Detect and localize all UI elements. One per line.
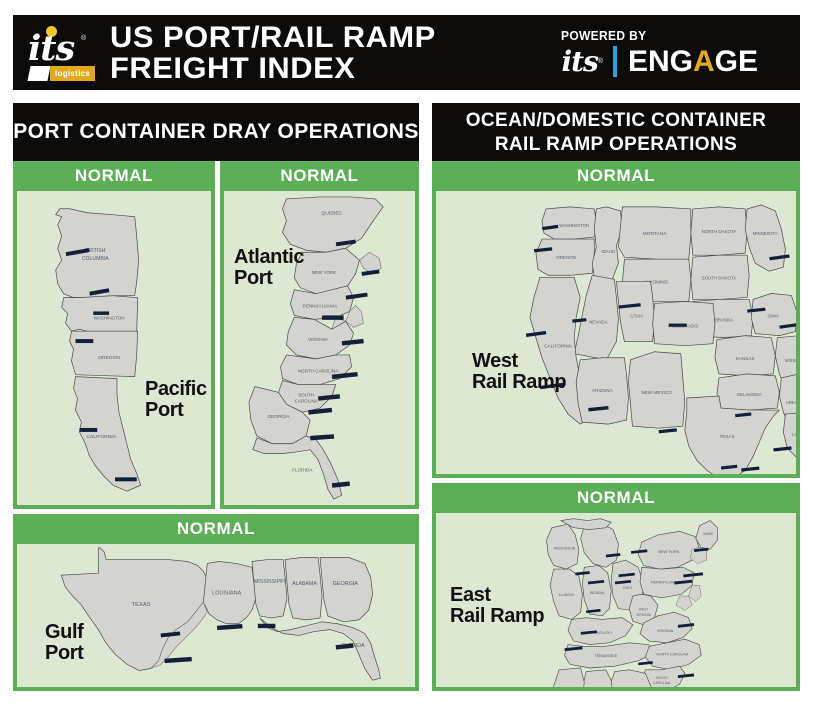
svg-text:COLUMBIA: COLUMBIA (82, 256, 109, 262)
svg-text:SOUTH: SOUTH (298, 392, 314, 397)
svg-text:MONTANA: MONTANA (643, 231, 667, 237)
svg-text:NORTH CAROLINA: NORTH CAROLINA (656, 652, 689, 656)
freight-index-infographic: its ® logistics US PORT/RAIL RAMP FREIGH… (0, 0, 813, 706)
status-badge-gulf-port: NORMAL (13, 514, 419, 544)
svg-text:WEST: WEST (639, 607, 649, 611)
engage-divider (613, 46, 617, 77)
svg-text:ARIZONA: ARIZONA (592, 388, 613, 393)
svg-text:WASHINGTON: WASHINGTON (559, 223, 589, 228)
map-atlantic-port: QUEBEC NEW YORK PENNSYLVANIA VIRGINIA (220, 191, 419, 509)
svg-text:NORTH CAROLINA: NORTH CAROLINA (298, 369, 339, 374)
card-atlantic-port: NORMAL QUEBEC NEW YORK PENNSYLVANIA (220, 161, 419, 509)
section-header-right-line1: OCEAN/DOMESTIC CONTAINER (432, 109, 800, 133)
logo-subbrand-text: logistics (50, 66, 95, 81)
logo-slash-shape (27, 66, 50, 81)
engage-name-pre: ENG (628, 45, 693, 78)
status-badge-atlantic-port: NORMAL (220, 161, 419, 191)
svg-text:TENNESSEE: TENNESSEE (594, 654, 617, 658)
svg-text:OREGON: OREGON (556, 255, 576, 260)
svg-text:GEORGIA: GEORGIA (333, 581, 359, 587)
svg-text:TEXAS: TEXAS (132, 602, 151, 608)
page-title: US PORT/RAIL RAMP FREIGHT INDEX (110, 22, 436, 84)
svg-text:VIRGINIA: VIRGINIA (636, 613, 652, 617)
section-port-container-dray-operations: PORT CONTAINER DRAY OPERATIONS NORMAL BR… (13, 103, 419, 691)
svg-text:GEORGIA: GEORGIA (268, 414, 291, 420)
status-badge-east-rail-ramp: NORMAL (432, 483, 800, 513)
map-pacific-port: BRITISH COLUMBIA WASHINGTON OREGON CALIF… (13, 191, 215, 509)
svg-text:VIRGINIA: VIRGINIA (308, 337, 329, 342)
svg-text:SOUTH DAKOTA: SOUTH DAKOTA (702, 275, 736, 280)
card-east-rail-ramp: NORMAL WISCONSIN ILLINOIS (432, 483, 800, 691)
svg-text:IDAHO: IDAHO (601, 249, 616, 254)
gulf-port-map-svg: TEXAS LOUISIANA MISSISSIPPI ALABAMA GEOR… (17, 544, 415, 687)
status-badge-west-rail-ramp: NORMAL (432, 161, 800, 191)
svg-text:QUEBEC: QUEBEC (321, 211, 342, 217)
svg-text:NORTH DAKOTA: NORTH DAKOTA (702, 229, 737, 234)
logo-brand-text: its (28, 31, 74, 66)
engage-registered-icon: ® (598, 58, 603, 65)
svg-text:OKLAHOMA: OKLAHOMA (737, 392, 762, 397)
engage-product-name: ENGAGE (628, 47, 758, 77)
svg-text:MAINE: MAINE (703, 532, 714, 536)
svg-text:ILLINOIS: ILLINOIS (559, 593, 575, 597)
its-logistics-logo: its ® logistics (28, 25, 90, 81)
svg-text:CALIFORNIA: CALIFORNIA (86, 434, 116, 440)
map-east-rail-ramp: WISCONSIN ILLINOIS INDIANA OHIO (432, 513, 800, 691)
engage-name-post: GE (715, 45, 758, 78)
svg-text:WISCONSIN: WISCONSIN (554, 546, 576, 550)
powered-by-label: POWERED BY (561, 28, 646, 43)
page-title-line2: FREIGHT INDEX (110, 53, 436, 84)
svg-text:PENNSYLVANIA: PENNSYLVANIA (303, 304, 338, 309)
map-label-east-rail-ramp: East Rail Ramp (450, 585, 544, 627)
svg-text:ARKANSAS: ARKANSAS (786, 400, 796, 405)
svg-text:NEW YORK: NEW YORK (312, 270, 337, 275)
svg-text:MISSOURI: MISSOURI (785, 358, 796, 363)
svg-text:TEXAS: TEXAS (719, 434, 734, 439)
svg-text:FLORIDA: FLORIDA (292, 467, 313, 473)
engage-name-accent: A (693, 45, 715, 78)
section-header-right: OCEAN/DOMESTIC CONTAINER RAIL RAMP OPERA… (432, 103, 800, 161)
map-gulf-port: TEXAS LOUISIANA MISSISSIPPI ALABAMA GEOR… (13, 544, 419, 691)
engage-logo: its® ENGAGE (561, 46, 758, 77)
map-west-rail-ramp: WASHINGTON OREGON IDAHO MONTANA NORTH DA… (432, 191, 800, 478)
svg-text:NEVADA: NEVADA (589, 320, 609, 325)
pacific-port-map-svg: BRITISH COLUMBIA WASHINGTON OREGON CALIF… (17, 191, 211, 505)
map-label-gulf-port: Gulf Port (45, 622, 83, 664)
status-badge-pacific-port: NORMAL (13, 161, 215, 191)
section-ocean-domestic-container-rail-ramp-operations: OCEAN/DOMESTIC CONTAINER RAIL RAMP OPERA… (432, 103, 800, 691)
section-header-left: PORT CONTAINER DRAY OPERATIONS (13, 103, 419, 161)
svg-text:KANSAS: KANSAS (736, 356, 755, 361)
svg-text:LOUISIANA: LOUISIANA (212, 591, 241, 597)
logo-registered-icon: ® (81, 35, 86, 42)
powered-by-block: POWERED BY its® ENGAGE (561, 28, 758, 77)
svg-text:UTAH: UTAH (630, 314, 642, 319)
card-pacific-port: NORMAL BRITISH COLUMBIA WASHINGTON OREGO… (13, 161, 215, 509)
svg-text:VIRGINIA: VIRGINIA (657, 629, 674, 633)
svg-text:OHIO: OHIO (623, 586, 633, 590)
engage-brand-text: its (561, 48, 597, 76)
svg-text:SOUTH: SOUTH (656, 676, 668, 680)
svg-text:NEW YORK: NEW YORK (658, 549, 680, 554)
svg-text:CALIFORNIA: CALIFORNIA (544, 344, 573, 349)
svg-text:NEW MEXICO: NEW MEXICO (642, 390, 673, 395)
atlantic-port-map-svg: QUEBEC NEW YORK PENNSYLVANIA VIRGINIA (224, 191, 415, 505)
svg-text:OREGON: OREGON (98, 355, 120, 361)
map-label-pacific-port: Pacific Port (145, 379, 207, 421)
svg-text:ALABAMA: ALABAMA (292, 581, 317, 587)
svg-text:IOWA: IOWA (767, 314, 779, 319)
card-west-rail-ramp: NORMAL WASHINGTON OREGON IDAHO MON (432, 161, 800, 478)
svg-text:MISSISSIPPI: MISSISSIPPI (254, 579, 285, 585)
card-gulf-port: NORMAL TEXAS LOUISIANA MISSISSIPPI ALABA… (13, 514, 419, 691)
svg-text:MINNESOTA: MINNESOTA (753, 231, 778, 236)
map-label-west-rail-ramp: West Rail Ramp (472, 351, 566, 393)
masthead: its ® logistics US PORT/RAIL RAMP FREIGH… (13, 15, 800, 90)
section-header-right-line2: RAIL RAMP OPERATIONS (432, 133, 800, 157)
map-label-atlantic-port: Atlantic Port (234, 247, 304, 289)
svg-text:CAROLINA: CAROLINA (653, 681, 671, 685)
svg-text:LOUISIANA: LOUISIANA (792, 432, 796, 437)
svg-text:WASHINGTON: WASHINGTON (94, 315, 125, 320)
page-title-line1: US PORT/RAIL RAMP (110, 22, 436, 53)
svg-text:INDIANA: INDIANA (590, 591, 605, 595)
svg-text:CAROLINA: CAROLINA (295, 398, 319, 403)
west-rail-ramp-map-svg: WASHINGTON OREGON IDAHO MONTANA NORTH DA… (436, 191, 796, 474)
